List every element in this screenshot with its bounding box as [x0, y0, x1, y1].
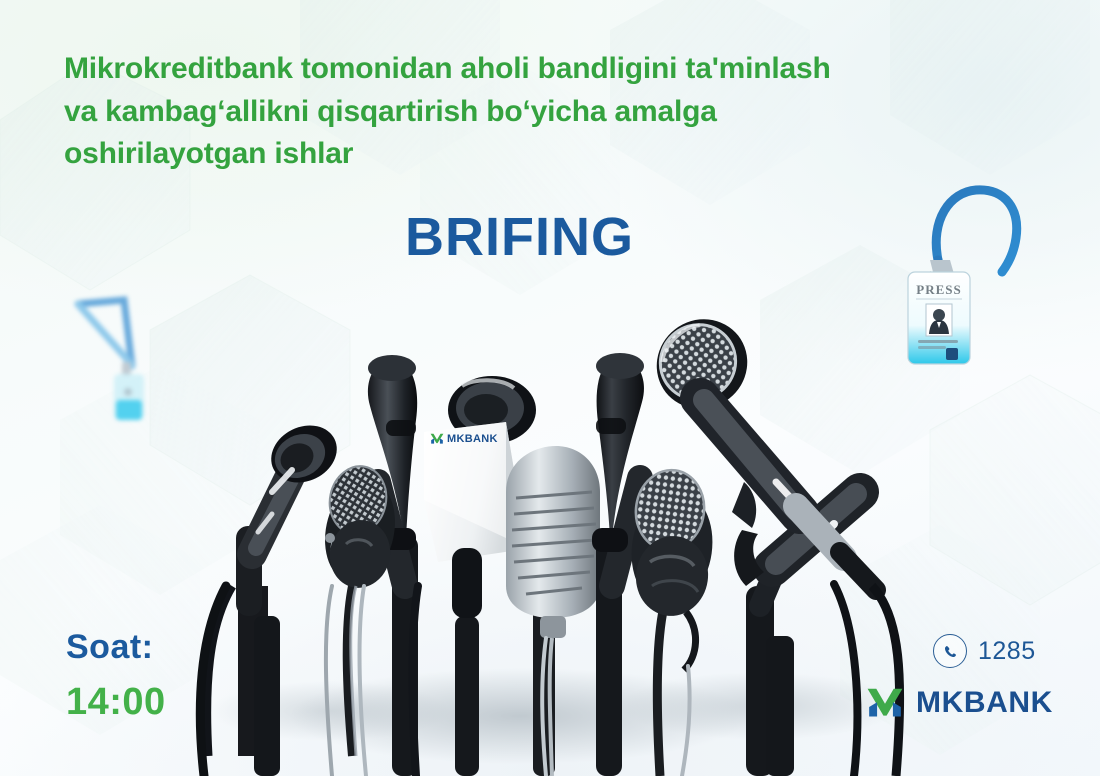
- hotline: 1285: [933, 634, 1036, 668]
- headline-line-3: oshirilayotgan ishlar: [64, 133, 1064, 176]
- hotline-number: 1285: [978, 637, 1036, 666]
- phone-icon: [933, 634, 967, 668]
- time-label: Soat:: [66, 628, 154, 667]
- headline-line-1: Mikrokreditbank tomonidan aholi bandligi…: [64, 48, 1064, 91]
- briefing-poster: Mikrokreditbank tomonidan aholi bandligi…: [0, 0, 1100, 776]
- time-value: 14:00: [66, 681, 166, 724]
- page-title: Mikrokreditbank tomonidan aholi bandligi…: [64, 48, 1064, 176]
- mkbank-logo-icon: [866, 684, 904, 722]
- headline-line-2: va kambag‘allikni qisqartirish bo‘yicha …: [64, 91, 1064, 134]
- mic-flag-brand-label: MKBANK: [447, 433, 498, 445]
- mic-flag-brand: MKBANK: [430, 432, 498, 446]
- brand-logo: MKBANK: [866, 684, 1053, 722]
- brand-name: MKBANK: [916, 686, 1053, 720]
- mkbank-logo-icon: [430, 432, 444, 446]
- event-title: BRIFING: [405, 206, 634, 268]
